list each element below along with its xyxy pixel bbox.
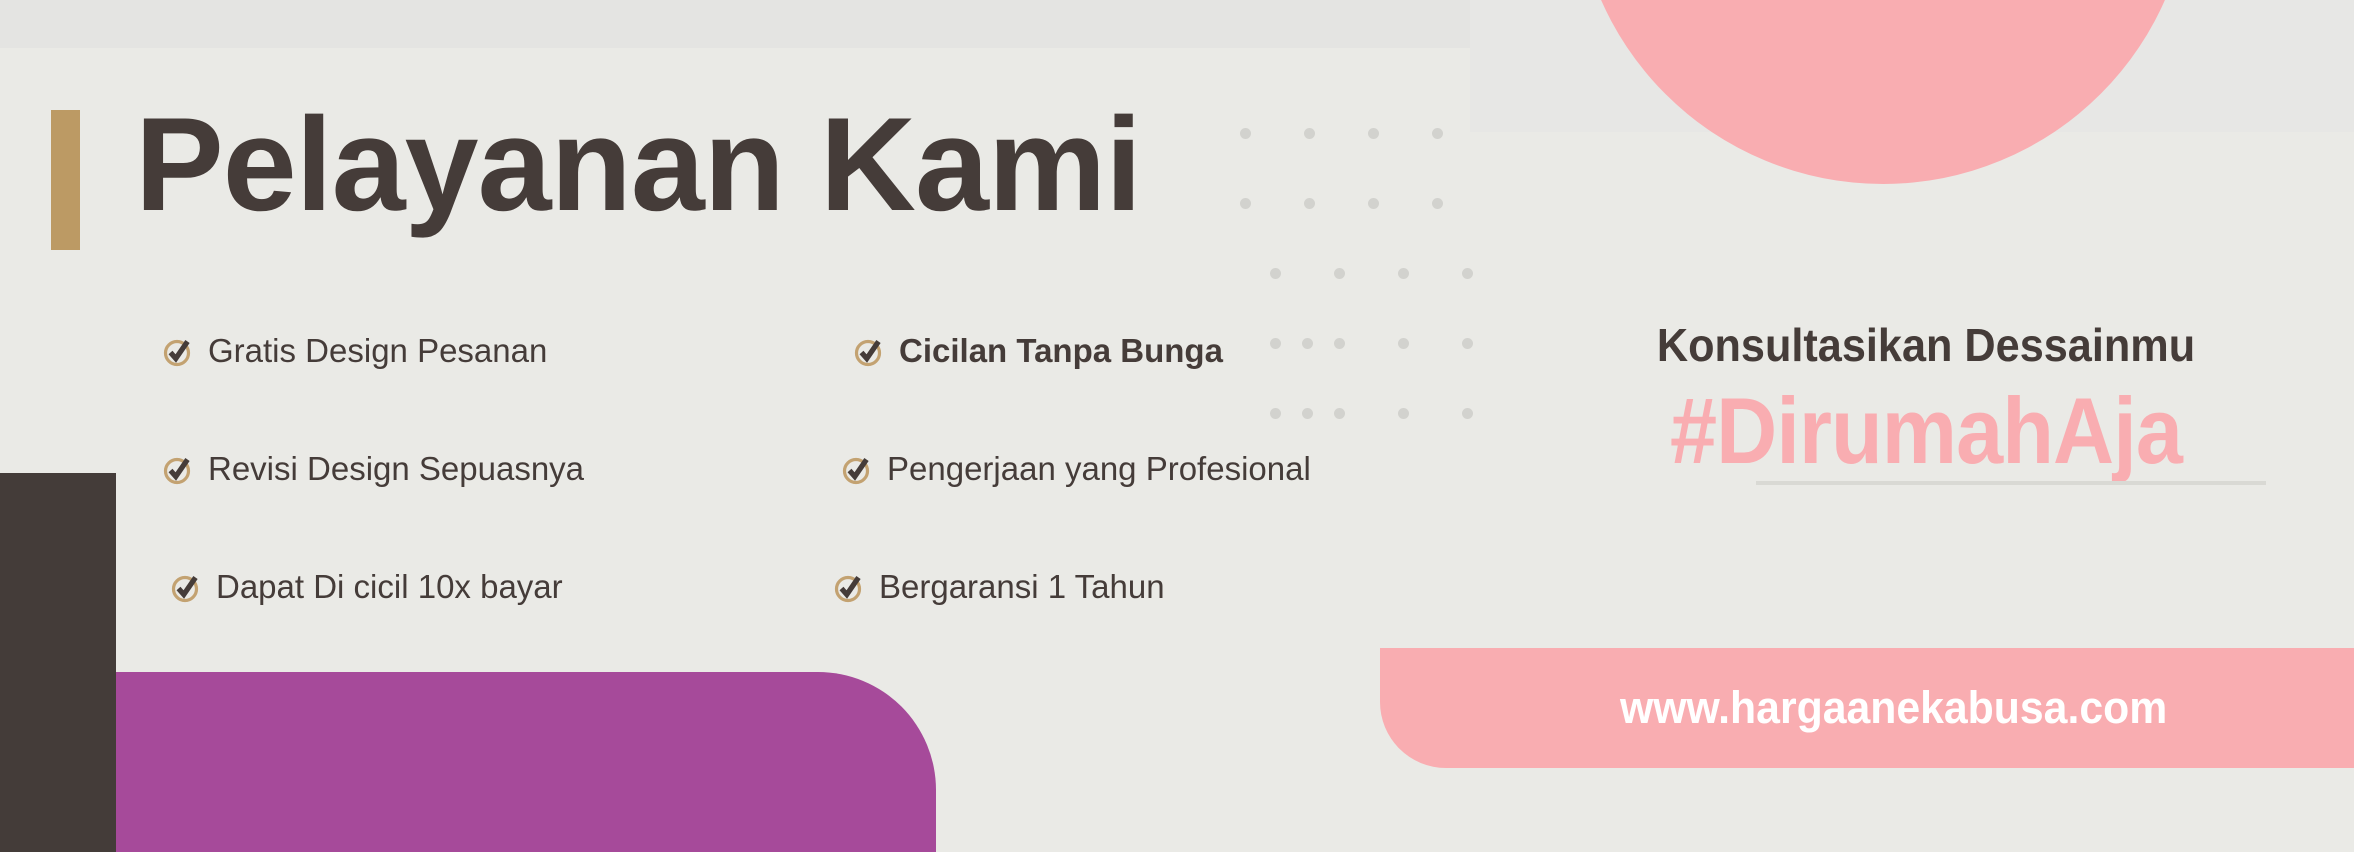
pink-circle-decoration bbox=[1575, 0, 2191, 184]
purple-rounded-shape-decoration bbox=[116, 672, 936, 852]
grid-dot bbox=[1432, 128, 1443, 139]
feature-label: Gratis Design Pesanan bbox=[208, 332, 547, 370]
features-left-column: Gratis Design PesananRevisi Design Sepua… bbox=[140, 320, 780, 674]
dark-left-bar-decoration bbox=[0, 473, 116, 852]
grid-dot bbox=[1304, 128, 1315, 139]
check-circle-icon bbox=[162, 334, 196, 368]
page-title: Pelayanan Kami bbox=[135, 98, 1141, 234]
feature-label: Pengerjaan yang Profesional bbox=[887, 450, 1311, 488]
promo-block: Konsultasikan Dessainmu #DirumahAja bbox=[1498, 318, 2354, 481]
grid-dot bbox=[1334, 268, 1345, 279]
check-circle-icon bbox=[853, 334, 887, 368]
promo-hashtag-wrap: #DirumahAja bbox=[1498, 382, 2354, 481]
grid-dot bbox=[1240, 198, 1251, 209]
feature-label: Revisi Design Sepuasnya bbox=[208, 450, 584, 488]
check-circle-icon bbox=[841, 452, 875, 486]
features-right-column: Cicilan Tanpa BungaPengerjaan yang Profe… bbox=[825, 320, 1465, 674]
feature-item: Bergaransi 1 Tahun bbox=[825, 556, 1465, 618]
feature-item: Dapat Di cicil 10x bayar bbox=[140, 556, 780, 618]
feature-label: Dapat Di cicil 10x bayar bbox=[216, 568, 563, 606]
page-title-row: Pelayanan Kami bbox=[51, 98, 1141, 250]
feature-label: Cicilan Tanpa Bunga bbox=[899, 332, 1223, 370]
promo-headline: Konsultasikan Dessainmu bbox=[1524, 318, 2329, 372]
check-circle-icon bbox=[833, 570, 867, 604]
gold-accent-bar bbox=[51, 110, 80, 250]
hashtag-underline bbox=[1756, 481, 2266, 485]
feature-item: Cicilan Tanpa Bunga bbox=[825, 320, 1465, 382]
check-circle-icon bbox=[170, 570, 204, 604]
grid-dot bbox=[1432, 198, 1443, 209]
grid-dot bbox=[1462, 268, 1473, 279]
check-circle-icon bbox=[162, 452, 196, 486]
feature-label: Bergaransi 1 Tahun bbox=[879, 568, 1165, 606]
website-pill[interactable]: www.hargaanekabusa.com bbox=[1380, 648, 2354, 768]
feature-item: Pengerjaan yang Profesional bbox=[825, 438, 1465, 500]
feature-item: Revisi Design Sepuasnya bbox=[140, 438, 780, 500]
website-url[interactable]: www.hargaanekabusa.com bbox=[1567, 682, 2167, 734]
service-banner: Pelayanan Kami Gratis Design PesananRevi… bbox=[0, 0, 2354, 852]
grid-dot bbox=[1368, 128, 1379, 139]
grid-dot bbox=[1368, 198, 1379, 209]
grid-dot bbox=[1240, 128, 1251, 139]
feature-item: Gratis Design Pesanan bbox=[140, 320, 780, 382]
grid-dot bbox=[1304, 198, 1315, 209]
promo-hashtag: #DirumahAja bbox=[1541, 382, 2311, 481]
grid-dot bbox=[1270, 268, 1281, 279]
grid-dot bbox=[1398, 268, 1409, 279]
